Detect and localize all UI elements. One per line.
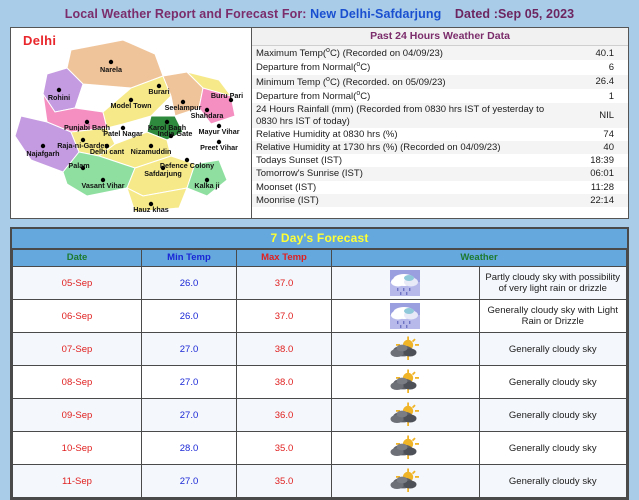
forecast-row: 09-Sep27.036.0Generally cloudy sky	[13, 399, 627, 432]
svg-text:Model Town: Model Town	[111, 101, 152, 110]
rain-cloud-icon	[332, 267, 480, 300]
forecast-row: 08-Sep27.038.0Generally cloudy sky	[13, 366, 627, 399]
weather-data-row: Relative Humidity at 1730 hrs (%) (Recor…	[252, 141, 628, 154]
weather-data-label: Tomorrow's Sunrise (IST)	[252, 167, 552, 180]
weather-data-row: Relative Humidity at 0830 hrs (%)74	[252, 128, 628, 141]
weather-data-value: 1	[552, 89, 628, 103]
svg-text:Buru Pari: Buru Pari	[211, 91, 243, 100]
weather-data-row: Departure from Normal(oC)6	[252, 60, 628, 74]
weather-data-label: Todays Sunset (IST)	[252, 154, 552, 167]
weather-data-row: Minimum Temp (oC) (Recorded. on 05/09/23…	[252, 75, 628, 89]
weather-data-row: Departure from Normal(oC)1	[252, 89, 628, 103]
forecast-title: 7 Day's Forecast	[12, 229, 627, 249]
weather-data-label: Departure from Normal(oC)	[252, 60, 552, 74]
forecast-date: 08-Sep	[13, 366, 142, 399]
forecast-date: 06-Sep	[13, 300, 142, 333]
forecast-description: Generally cloudy sky with Light Rain or …	[479, 300, 627, 333]
forecast-min-temp: 27.0	[142, 333, 237, 366]
forecast-max-temp: 38.0	[237, 366, 332, 399]
sun-behind-cloud-icon	[332, 432, 480, 465]
forecast-max-temp: 36.0	[237, 399, 332, 432]
weather-data-value: 11:28	[552, 181, 628, 194]
svg-text:Mayur Vihar: Mayur Vihar	[198, 127, 239, 136]
forecast-date: 07-Sep	[13, 333, 142, 366]
svg-text:India Gate: India Gate	[158, 129, 193, 138]
past-24h-panel: Past 24 Hours Weather Data Maximum Temp(…	[252, 28, 628, 218]
svg-text:Vasant Vihar: Vasant Vihar	[81, 181, 124, 190]
forecast-max-temp: 35.0	[237, 465, 332, 498]
weather-data-value: NIL	[552, 103, 628, 127]
svg-text:Kalka ji: Kalka ji	[194, 181, 219, 190]
delhi-map: Delhi Narela	[11, 28, 252, 218]
report-date: Dated :Sep 05, 2023	[455, 7, 574, 21]
forecast-min-temp: 27.0	[142, 465, 237, 498]
past-24h-table: Maximum Temp(oC) (Recorded on 04/09/23)4…	[252, 46, 628, 207]
column-header-max-temp: Max Temp	[237, 250, 332, 267]
svg-text:Seelampur: Seelampur	[165, 103, 202, 112]
forecast-description: Generally cloudy sky	[479, 432, 627, 465]
svg-text:Nizamuddin: Nizamuddin	[131, 147, 172, 156]
page-title: Local Weather Report and Forecast For: N…	[0, 0, 639, 27]
svg-text:Defence Colony: Defence Colony	[160, 161, 214, 170]
svg-text:Narela: Narela	[100, 65, 123, 74]
map-title: Delhi	[23, 33, 56, 48]
weather-data-label: Minimum Temp (oC) (Recorded. on 05/09/23…	[252, 75, 552, 89]
forecast-table: Date Min Temp Max Temp Weather 05-Sep26.…	[12, 249, 627, 498]
weather-data-value: 26.4	[552, 75, 628, 89]
weather-data-value: 40	[552, 141, 628, 154]
weather-data-row: Moonset (IST)11:28	[252, 181, 628, 194]
weather-data-row: Todays Sunset (IST)18:39	[252, 154, 628, 167]
svg-text:Najafgarh: Najafgarh	[26, 149, 59, 158]
sun-behind-cloud-icon	[332, 465, 480, 498]
sun-behind-cloud-icon	[332, 399, 480, 432]
forecast-row: 05-Sep26.037.0Partly cloudy sky with pos…	[13, 267, 627, 300]
map-district-narela	[67, 40, 163, 88]
forecast-min-temp: 27.0	[142, 399, 237, 432]
weather-data-value: 18:39	[552, 154, 628, 167]
weather-data-row: Moonrise (IST)22:14	[252, 194, 628, 207]
forecast-min-temp: 26.0	[142, 267, 237, 300]
weather-data-label: Departure from Normal(oC)	[252, 89, 552, 103]
forecast-description: Generally cloudy sky	[479, 366, 627, 399]
forecast-date: 09-Sep	[13, 399, 142, 432]
weather-data-value: 40.1	[552, 46, 628, 60]
forecast-min-temp: 27.0	[142, 366, 237, 399]
weather-data-value: 06:01	[552, 167, 628, 180]
forecast-panel: 7 Day's Forecast Date Min Temp Max Temp …	[10, 227, 629, 500]
column-header-min-temp: Min Temp	[142, 250, 237, 267]
forecast-description: Generally cloudy sky	[479, 333, 627, 366]
forecast-row: 07-Sep27.038.0Generally cloudy sky	[13, 333, 627, 366]
forecast-row: 06-Sep26.037.0Generally cloudy sky with …	[13, 300, 627, 333]
weather-data-label: Maximum Temp(oC) (Recorded on 04/09/23)	[252, 46, 552, 60]
forecast-row: 11-Sep27.035.0Generally cloudy sky	[13, 465, 627, 498]
page-title-prefix: Local Weather Report and Forecast For:	[65, 7, 307, 21]
weather-data-label: Moonrise (IST)	[252, 194, 552, 207]
delhi-map-svg: Narela Rohini Punjabi Bagh Najafgarh Raj…	[11, 28, 251, 218]
svg-text:Preet Vihar: Preet Vihar	[200, 143, 238, 152]
forecast-min-temp: 28.0	[142, 432, 237, 465]
svg-text:Shahdara: Shahdara	[191, 111, 225, 120]
forecast-max-temp: 35.0	[237, 432, 332, 465]
weather-data-row: Maximum Temp(oC) (Recorded on 04/09/23)4…	[252, 46, 628, 60]
weather-data-value: 74	[552, 128, 628, 141]
forecast-date: 05-Sep	[13, 267, 142, 300]
forecast-min-temp: 26.0	[142, 300, 237, 333]
weather-data-label: Relative Humidity at 0830 hrs (%)	[252, 128, 552, 141]
sun-behind-cloud-icon	[332, 366, 480, 399]
weather-data-row: 24 Hours Rainfall (mm) (Recorded from 08…	[252, 103, 628, 127]
weather-data-label: 24 Hours Rainfall (mm) (Recorded from 08…	[252, 103, 552, 127]
column-header-weather: Weather	[332, 250, 627, 267]
forecast-description: Generally cloudy sky	[479, 399, 627, 432]
weather-data-value: 22:14	[552, 194, 628, 207]
weather-data-value: 6	[552, 60, 628, 74]
weather-data-label: Moonset (IST)	[252, 181, 552, 194]
svg-text:Burari: Burari	[148, 87, 169, 96]
top-panel: Delhi Narela	[10, 27, 629, 219]
forecast-description: Generally cloudy sky	[479, 465, 627, 498]
forecast-description: Partly cloudy sky with possibility of ve…	[479, 267, 627, 300]
column-header-date: Date	[13, 250, 142, 267]
svg-text:Palam: Palam	[68, 161, 89, 170]
forecast-max-temp: 38.0	[237, 333, 332, 366]
rain-cloud-icon	[332, 300, 480, 333]
forecast-date: 10-Sep	[13, 432, 142, 465]
forecast-max-temp: 37.0	[237, 300, 332, 333]
forecast-date: 11-Sep	[13, 465, 142, 498]
forecast-row: 10-Sep28.035.0Generally cloudy sky	[13, 432, 627, 465]
svg-text:Hauz khas: Hauz khas	[133, 205, 169, 214]
svg-text:Delhi cant: Delhi cant	[90, 147, 125, 156]
weather-data-row: Tomorrow's Sunrise (IST)06:01	[252, 167, 628, 180]
sun-behind-cloud-icon	[332, 333, 480, 366]
weather-data-label: Relative Humidity at 1730 hrs (%) (Recor…	[252, 141, 552, 154]
svg-text:Safdarjung: Safdarjung	[144, 169, 182, 178]
past-24h-title: Past 24 Hours Weather Data	[252, 28, 628, 46]
station-name: New Delhi-Safdarjung	[310, 7, 441, 21]
svg-text:Rohini: Rohini	[48, 93, 70, 102]
forecast-header-row: Date Min Temp Max Temp Weather	[13, 250, 627, 267]
forecast-max-temp: 37.0	[237, 267, 332, 300]
svg-text:Patel Nagar: Patel Nagar	[103, 129, 143, 138]
